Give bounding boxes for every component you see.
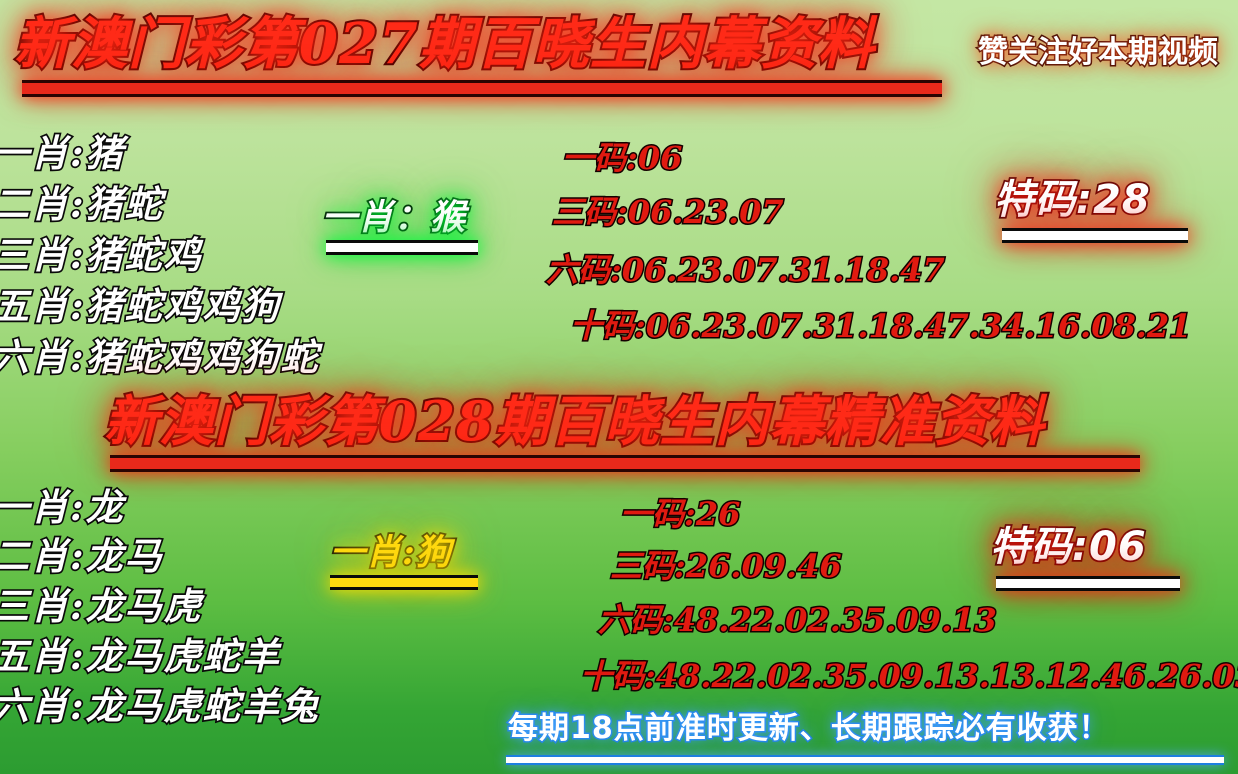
section-1-code-3: 三码:06.23.07 bbox=[552, 196, 784, 228]
section-2-code-10: 十码:48.22.02.35.09.13.13.12.46.26.03 bbox=[580, 660, 1238, 692]
section-2-zodiac-row-3: 三肖:龙马虎 bbox=[0, 588, 203, 625]
section-1-special-underline bbox=[1002, 228, 1188, 243]
section-2-zodiac-row-1: 一肖:龙 bbox=[0, 489, 125, 526]
section-2-zodiac-row-5: 六肖:龙马虎蛇羊兔 bbox=[0, 688, 320, 725]
section-2-code-1: 一码:26 bbox=[620, 498, 740, 530]
section-1-zodiac-row-4: 五肖:猪蛇鸡鸡狗 bbox=[0, 288, 281, 325]
section-2-title-underline bbox=[110, 455, 1140, 472]
section-2-zodiac-row-4: 五肖:龙马虎蛇羊 bbox=[0, 638, 281, 675]
section-1-zodiac-row-1: 一肖:猪 bbox=[0, 135, 125, 172]
section-2-special-number: 特码:06 bbox=[990, 527, 1147, 567]
section-1-special-number: 特码:28 bbox=[994, 180, 1151, 220]
section-2-pick-underline bbox=[330, 575, 478, 590]
section-1-zodiac-row-5: 六肖:猪蛇鸡鸡狗蛇 bbox=[0, 339, 320, 376]
section-2-title: 新澳门彩第028期百晓生内幕精准资料 bbox=[104, 394, 1045, 448]
section-1-pick-underline bbox=[326, 240, 478, 255]
footer-note: 每期18点前准时更新、长期跟踪必有收获！ bbox=[508, 714, 1110, 744]
section-2-zodiac-row-2: 二肖:龙马 bbox=[0, 538, 164, 575]
section-1-pick-label: 一肖：猴 bbox=[322, 200, 466, 235]
section-2-special-underline bbox=[996, 576, 1180, 591]
section-1-title-underline bbox=[22, 80, 942, 97]
section-1-code-6: 六码:06.23.07.31.18.47 bbox=[546, 254, 945, 286]
section-1-zodiac-row-2: 二肖:猪蛇 bbox=[0, 186, 164, 223]
section-1-zodiac-row-3: 三肖:猪蛇鸡 bbox=[0, 237, 203, 274]
section-2-code-6: 六码:48.22.02.35.09.13 bbox=[598, 604, 997, 636]
section-2-pick-label: 一肖:狗 bbox=[330, 535, 452, 570]
section-1-title: 新澳门彩第027期百晓生内幕资料 bbox=[14, 16, 875, 72]
section-2-code-3: 三码:26.09.46 bbox=[610, 550, 842, 582]
section-1-code-1: 一码:06 bbox=[562, 142, 682, 174]
promo-text: 赞关注好本期视频 bbox=[978, 38, 1218, 68]
lottery-poster: 新澳门彩第027期百晓生内幕资料 赞关注好本期视频 一肖:猪 二肖:猪蛇 三肖:… bbox=[0, 0, 1238, 774]
footer-underline bbox=[506, 755, 1224, 765]
section-1-code-10: 十码:06.23.07.31.18.47.34.16.08.21 bbox=[570, 310, 1191, 342]
